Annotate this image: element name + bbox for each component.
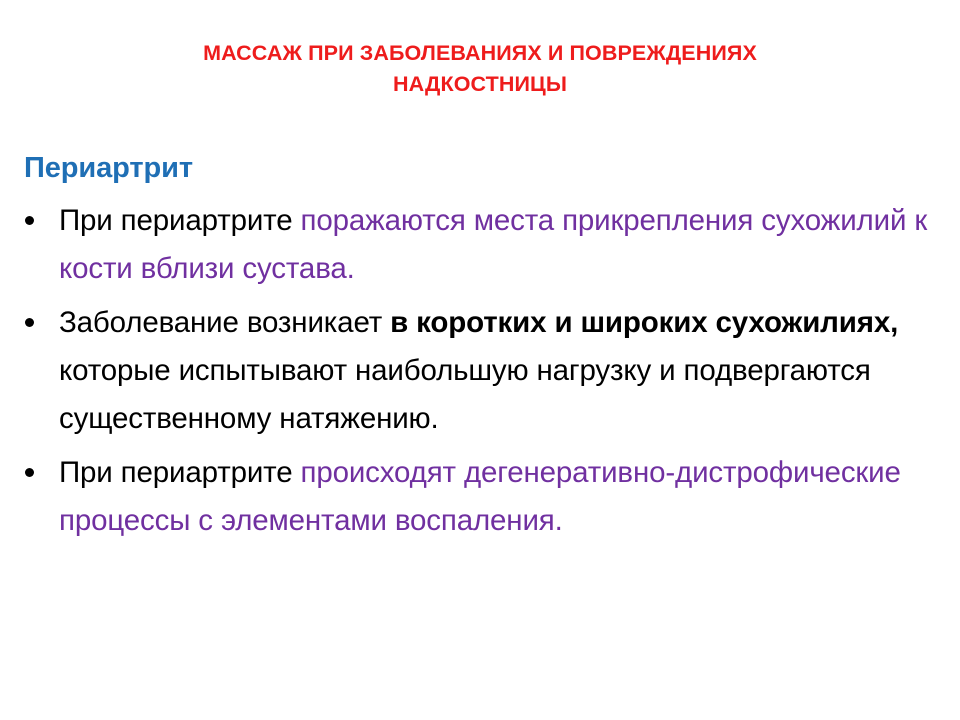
slide-title-line-2: НАДКОСТНИЦЫ (120, 69, 840, 100)
list-item: При периартрите происходят дегенеративно… (18, 449, 942, 545)
slide-canvas: МАССАЖ ПРИ ЗАБОЛЕВАНИЯХ И ПОВРЕЖДЕНИЯХ Н… (0, 0, 960, 720)
bullet-dot-icon (25, 468, 34, 477)
section-heading-periartrit: Периартрит (24, 148, 942, 188)
text-run: которые испытывают наибольшую нагрузку и… (59, 354, 871, 435)
bullet-text: При периартрите происходят дегенеративно… (59, 449, 942, 545)
text-run: При периартрите (59, 204, 301, 237)
list-item: Заболевание возникает в коротких и широк… (18, 299, 942, 443)
slide-title-line-1: МАССАЖ ПРИ ЗАБОЛЕВАНИЯХ И ПОВРЕЖДЕНИЯХ (120, 38, 840, 69)
text-run-emphasis: в коротких и широких сухожилиях, (390, 306, 898, 339)
slide-title: МАССАЖ ПРИ ЗАБОЛЕВАНИЯХ И ПОВРЕЖДЕНИЯХ Н… (120, 38, 840, 100)
list-item: При периартрите поражаются места прикреп… (18, 197, 942, 293)
text-run: При периартрите (59, 456, 301, 489)
bullet-dot-icon (25, 318, 34, 327)
slide-body: Периартрит При периартрите поражаются ме… (18, 148, 942, 545)
bullet-text: Заболевание возникает в коротких и широк… (59, 299, 942, 443)
bullet-list: При периартрите поражаются места прикреп… (18, 197, 942, 545)
bullet-dot-icon (25, 216, 34, 225)
text-run: Заболевание возникает (59, 306, 390, 339)
bullet-text: При периартрите поражаются места прикреп… (59, 197, 942, 293)
